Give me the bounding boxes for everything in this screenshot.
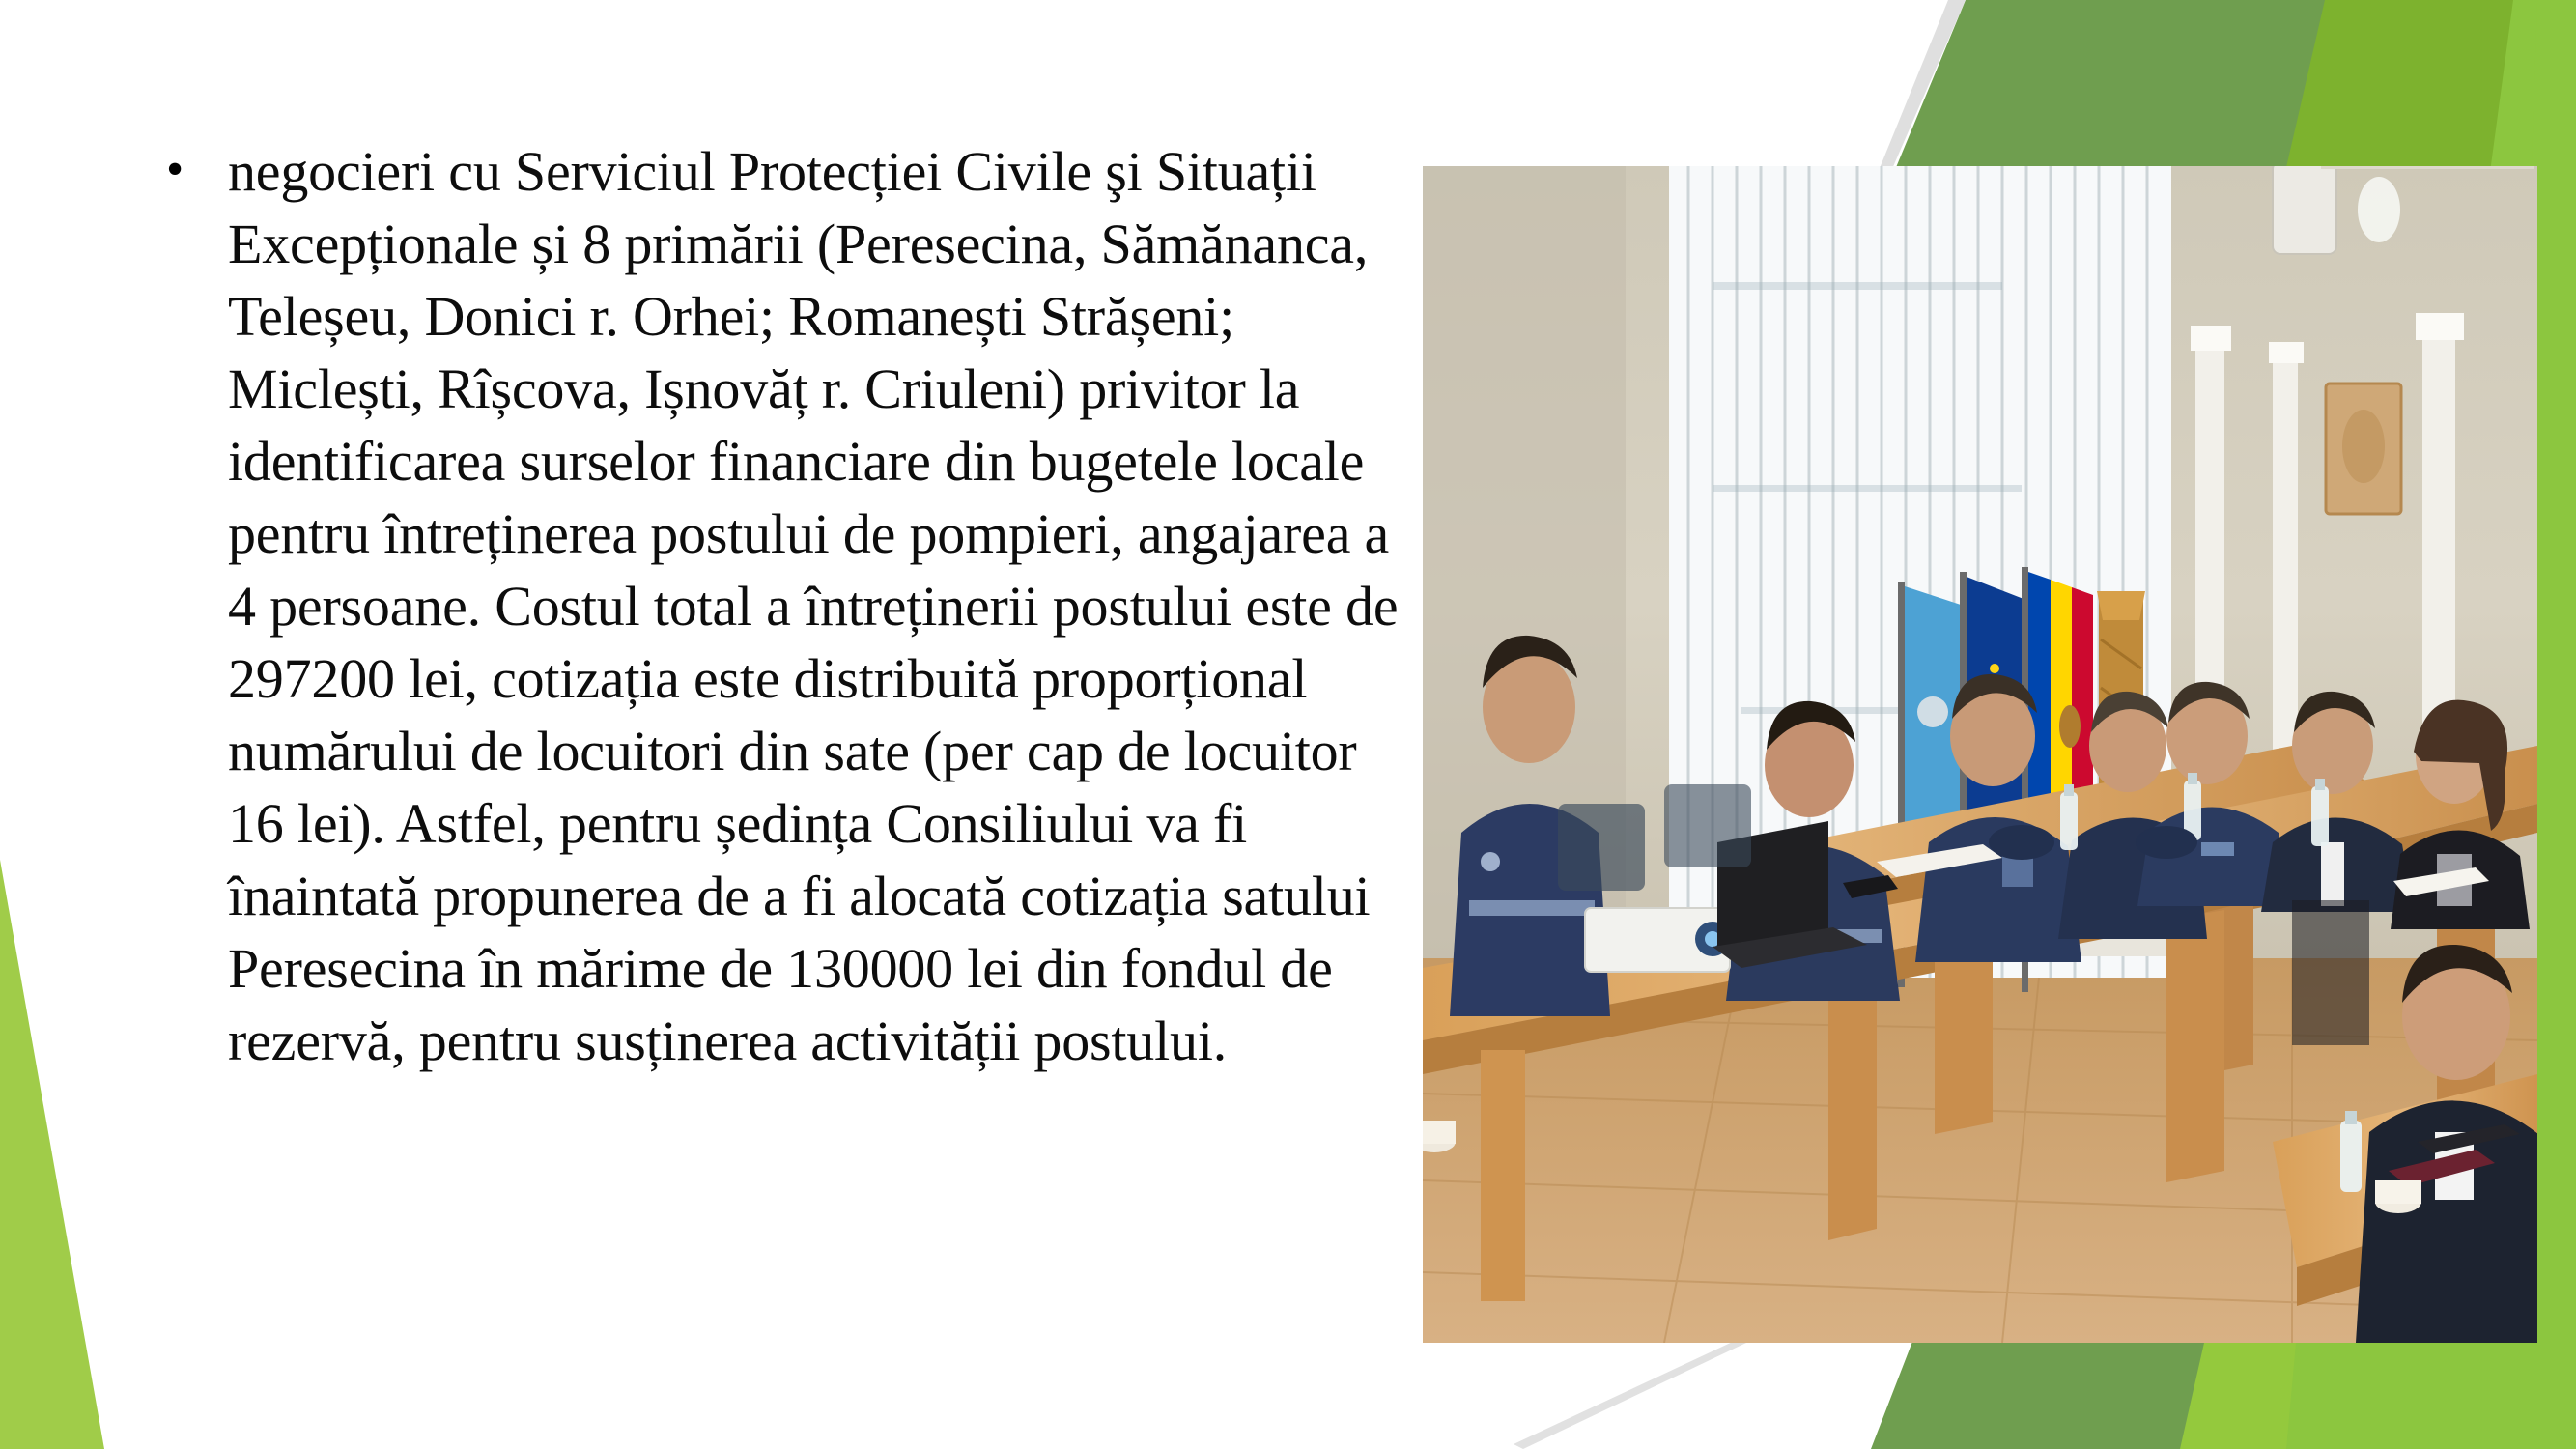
- bullet-item-text: negocieri cu Serviciul Protecției Civile…: [228, 135, 1401, 1077]
- projector: [1585, 908, 1730, 972]
- bullet-marker-icon: •: [155, 135, 228, 205]
- meeting-photo-illustration: [1423, 166, 2537, 1343]
- meeting-photo: [1423, 166, 2537, 1343]
- presentation-slide: • negocieri cu Serviciul Protecției Civi…: [0, 0, 2576, 1449]
- ceiling-lamp-icon: [2358, 177, 2400, 242]
- uniform-cap-right: [2136, 826, 2197, 859]
- green-triangle-bottom-left: [0, 860, 104, 1449]
- plaque-figure: [2342, 410, 2385, 483]
- water-bottle-4: [2340, 1111, 2362, 1192]
- lamp-rail: [2321, 166, 2534, 169]
- cup-left-edge: [1423, 1121, 1456, 1152]
- uniform-cap-left: [1989, 825, 2054, 860]
- cup-foreground: [2375, 1180, 2421, 1213]
- water-bottle-3: [2311, 779, 2329, 846]
- air-conditioner: [2273, 166, 2336, 254]
- bullet-list-item: • negocieri cu Serviciul Protecției Civi…: [155, 135, 1401, 1077]
- water-bottle-1: [2060, 784, 2078, 850]
- slide-body-text: • negocieri cu Serviciul Protecției Civi…: [155, 135, 1401, 1077]
